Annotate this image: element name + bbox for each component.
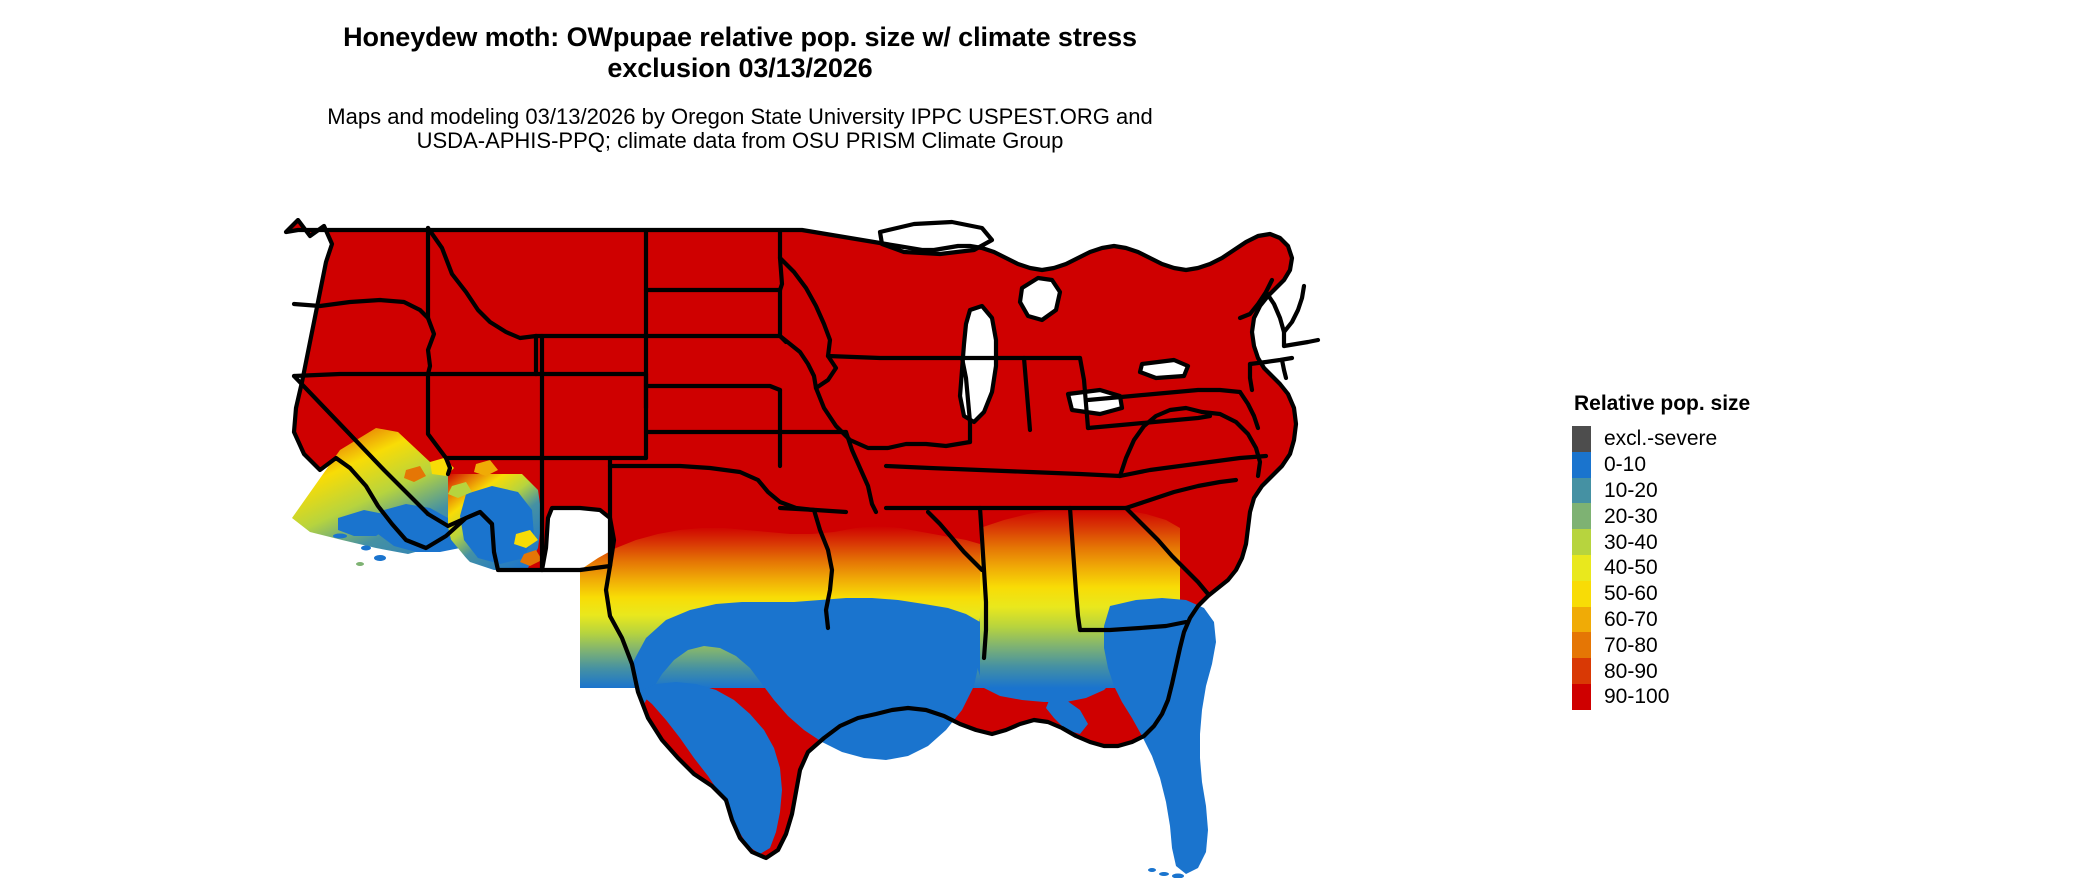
legend-item-label: excl.-severe bbox=[1604, 428, 1717, 449]
legend-item: 10-20 bbox=[1572, 478, 1932, 504]
legend-item: 90-100 bbox=[1572, 684, 1932, 710]
legend-color-swatch bbox=[1572, 684, 1591, 710]
title-block: Honeydew moth: OWpupae relative pop. siz… bbox=[0, 22, 1480, 154]
legend-item-label: 90-100 bbox=[1604, 686, 1669, 707]
legend-color-swatch bbox=[1572, 529, 1591, 555]
legend-item: 50-60 bbox=[1572, 581, 1932, 607]
legend-item-label: 50-60 bbox=[1604, 583, 1658, 604]
florida-keys-specks bbox=[1148, 868, 1184, 878]
legend-color-swatch bbox=[1572, 632, 1591, 658]
legend-item-label: 60-70 bbox=[1604, 609, 1658, 630]
page-title: Honeydew moth: OWpupae relative pop. siz… bbox=[0, 22, 1480, 85]
choropleth-map bbox=[280, 218, 1430, 878]
legend-color-swatch bbox=[1572, 478, 1591, 504]
island-speck-d bbox=[356, 562, 364, 566]
ma-nh-me-line bbox=[1284, 340, 1318, 346]
gulf-coast-low-population-zone bbox=[580, 526, 980, 854]
legend-item-label: 10-20 bbox=[1604, 480, 1658, 501]
map-legend: Relative pop. size excl.-severe0-1010-20… bbox=[1572, 392, 1932, 710]
map-subtitle: Maps and modeling 03/13/2026 by Oregon S… bbox=[0, 105, 1480, 155]
legend-item: 80-90 bbox=[1572, 658, 1932, 684]
legend-color-swatch bbox=[1572, 658, 1591, 684]
legend-color-swatch bbox=[1572, 607, 1591, 633]
legend-item: 20-30 bbox=[1572, 503, 1932, 529]
legend-item-label: 30-40 bbox=[1604, 532, 1658, 553]
legend-title: Relative pop. size bbox=[1574, 392, 1932, 416]
legend-item: 40-50 bbox=[1572, 555, 1932, 581]
nm-south-line bbox=[542, 566, 610, 570]
legend-items: excl.-severe0-1010-2020-3030-4040-5050-6… bbox=[1572, 426, 1932, 710]
legend-item-label: 70-80 bbox=[1604, 635, 1658, 656]
legend-item-label: 20-30 bbox=[1604, 506, 1658, 527]
nh-me-line bbox=[1284, 286, 1304, 332]
legend-item: 0-10 bbox=[1572, 452, 1932, 478]
legend-item-label: 40-50 bbox=[1604, 557, 1658, 578]
or-ca-line bbox=[294, 374, 428, 376]
legend-color-swatch bbox=[1572, 452, 1591, 478]
island-speck-c bbox=[374, 555, 386, 561]
legend-color-swatch bbox=[1572, 555, 1591, 581]
wi-il-line bbox=[828, 356, 962, 358]
ny-ct-line bbox=[1250, 364, 1252, 390]
legend-item: 30-40 bbox=[1572, 529, 1932, 555]
vt-nh-line bbox=[1266, 292, 1284, 346]
figure-root: Honeydew moth: OWpupae relative pop. siz… bbox=[0, 0, 2100, 892]
legend-color-swatch bbox=[1572, 581, 1591, 607]
legend-color-swatch bbox=[1572, 426, 1591, 452]
legend-item: 60-70 bbox=[1572, 607, 1932, 633]
legend-item: excl.-severe bbox=[1572, 426, 1932, 452]
legend-item: 70-80 bbox=[1572, 632, 1932, 658]
ri-line bbox=[1282, 360, 1286, 378]
legend-item-label: 0-10 bbox=[1604, 454, 1646, 475]
island-speck-a bbox=[333, 534, 347, 539]
map-svg bbox=[280, 218, 1430, 878]
island-speck-b bbox=[361, 546, 371, 551]
legend-color-swatch bbox=[1572, 503, 1591, 529]
legend-item-label: 80-90 bbox=[1604, 661, 1658, 682]
